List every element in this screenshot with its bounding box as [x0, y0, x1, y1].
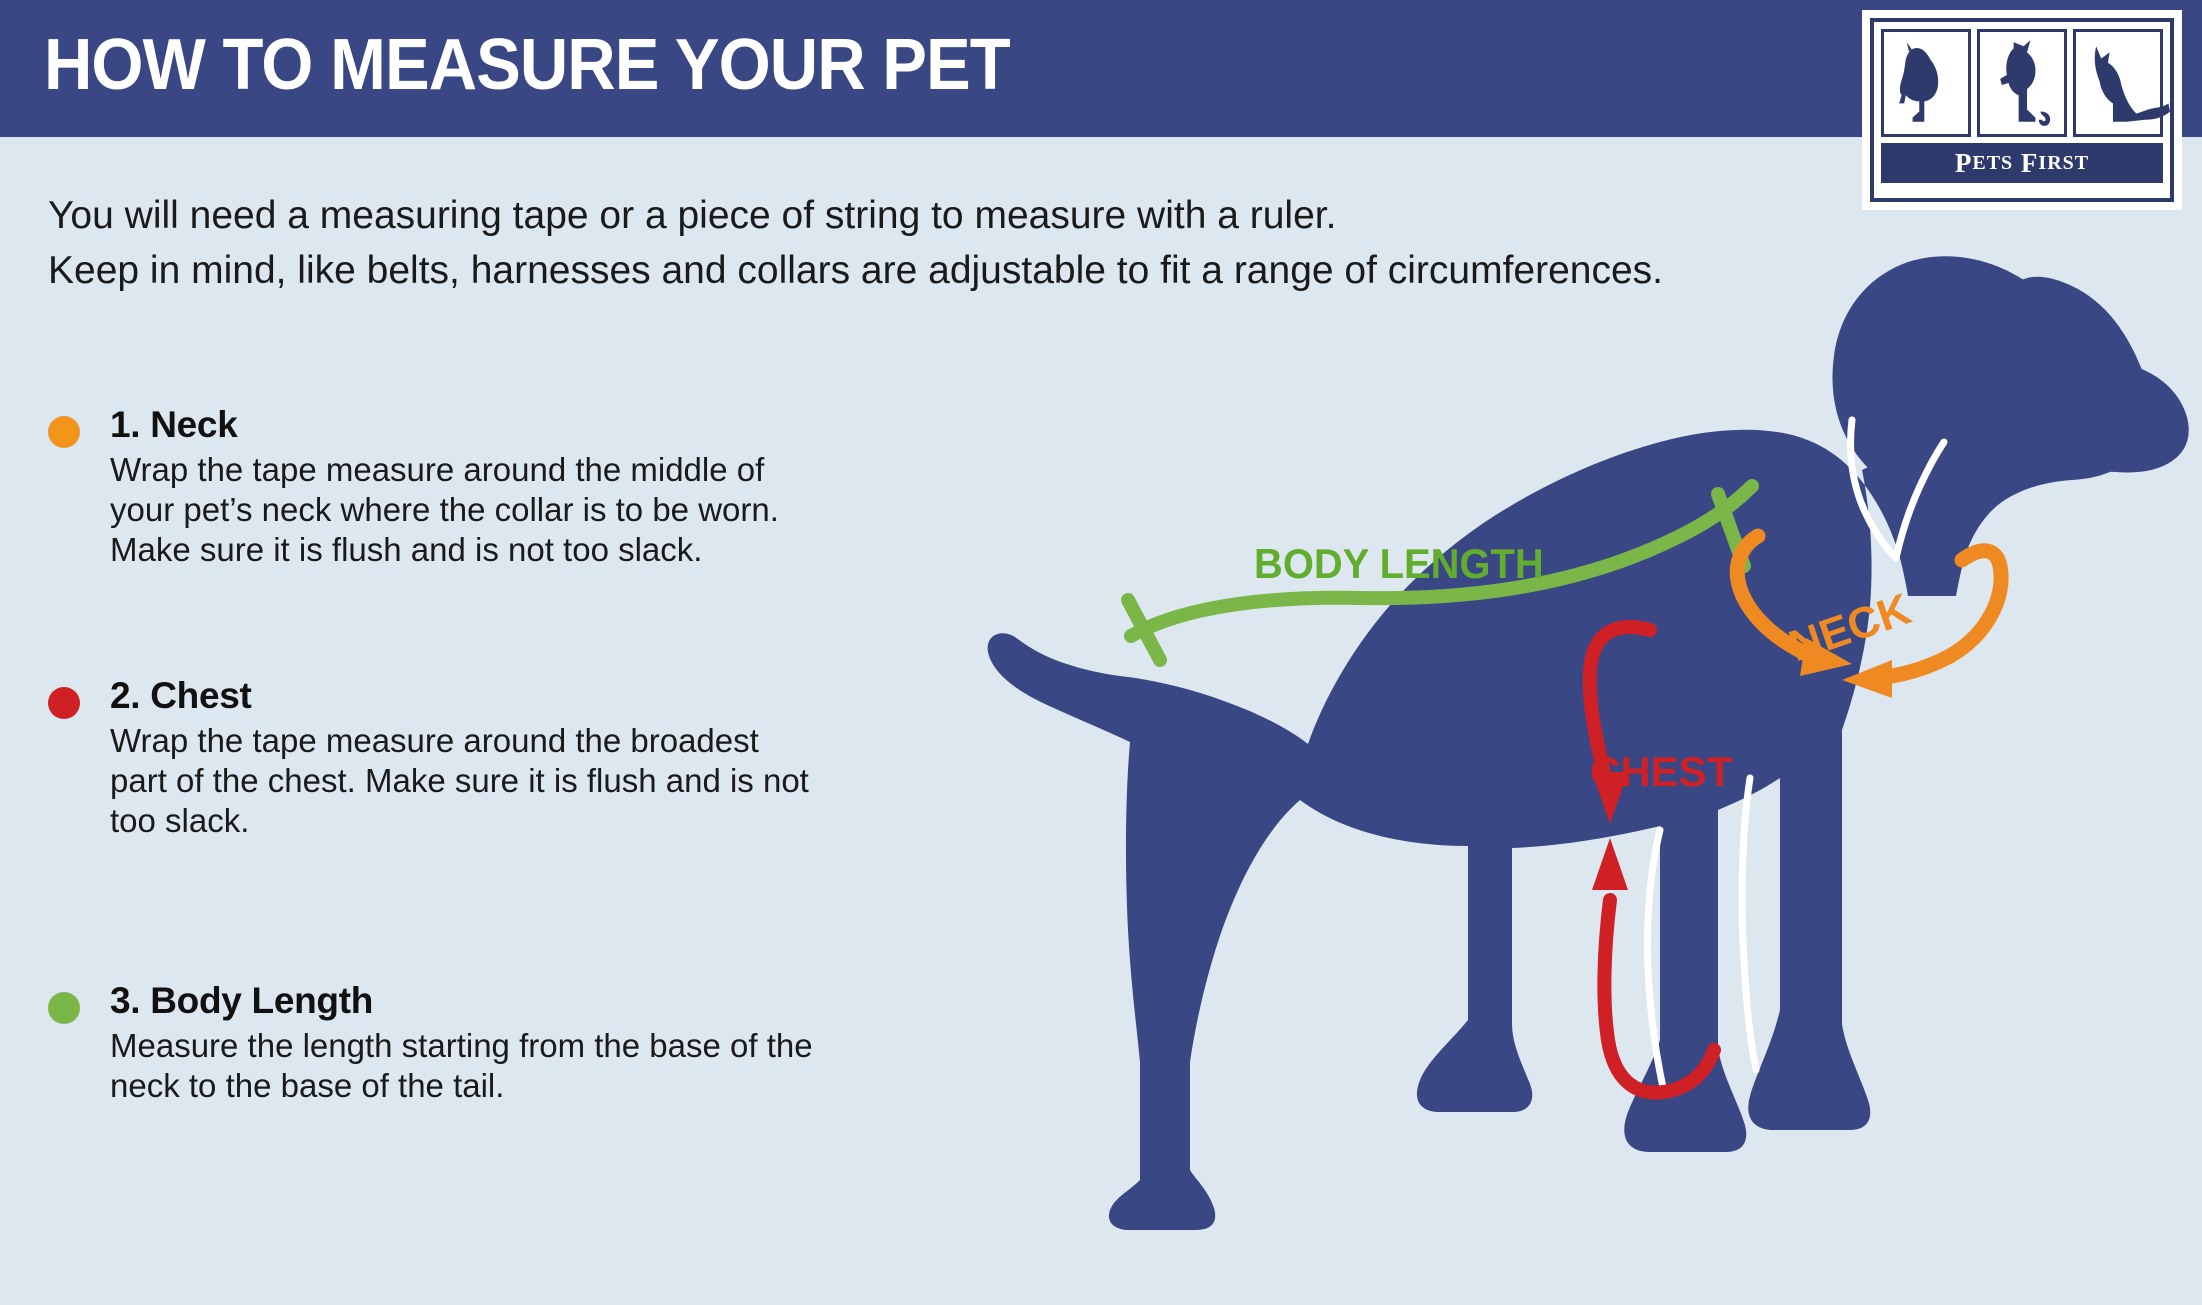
chest-measure-arrow-icon	[1590, 627, 1714, 1092]
dog-head-icon	[1833, 256, 2189, 596]
step-title-chest: 2. Chest	[110, 675, 708, 717]
step-desc-neck-line-3: Make sure it is flush and is not too sla…	[110, 530, 708, 570]
step-item-body-length: 3. Body Length Measure the length starti…	[48, 980, 708, 1106]
step-desc-body-length: Measure the length starting from the bas…	[110, 1026, 708, 1106]
bullet-chest-icon	[48, 687, 80, 719]
page-title: HOW TO MEASURE YOUR PET	[44, 24, 1010, 106]
brand-logo: PETS FIRST	[1862, 10, 2182, 210]
step-desc-chest-line-2: part of the chest. Make sure it is flush…	[110, 761, 708, 801]
step-item-chest: 2. Chest Wrap the tape measure around th…	[48, 675, 708, 841]
step-title-neck: 1. Neck	[110, 404, 708, 446]
label-body-length: BODY LENGTH	[1254, 540, 1544, 588]
bullet-body-length-icon	[48, 992, 80, 1024]
dog-howling-silhouette-icon	[1977, 29, 2067, 137]
logo-wordmark-f: F	[2021, 148, 2039, 179]
step-desc-body-length-line-2: neck to the base of the tail.	[110, 1066, 708, 1106]
step-desc-neck-line-1: Wrap the tape measure around the middle …	[110, 450, 708, 490]
intro-line-1: You will need a measuring tape or a piec…	[48, 188, 1808, 243]
dog-body-detail-lines	[1648, 778, 1757, 1092]
intro-line-2: Keep in mind, like belts, harnesses and …	[48, 243, 1808, 298]
label-neck: NECK	[1783, 584, 1917, 672]
logo-dog-panels	[1881, 29, 2163, 137]
dog-silhouette-icon	[988, 277, 2150, 1230]
step-desc-body-length-line-1: Measure the length starting from the bas…	[110, 1026, 708, 1066]
infographic-page: HOW TO MEASURE YOUR PET	[0, 0, 2202, 1305]
step-desc-chest: Wrap the tape measure around the broades…	[110, 721, 708, 841]
step-desc-chest-line-3: too slack.	[110, 801, 708, 841]
logo-wordmark-irst: IRST	[2038, 152, 2089, 175]
label-chest: CHEST	[1590, 748, 1732, 796]
step-desc-neck-line-2: your pet’s neck where the collar is to b…	[110, 490, 708, 530]
logo-wordmark-p: P	[1955, 148, 1973, 179]
intro-text: You will need a measuring tape or a piec…	[48, 188, 1808, 298]
dog-sitting-silhouette-icon	[1881, 29, 1971, 137]
dog-shepherd-silhouette-icon	[2073, 29, 2163, 137]
logo-wordmark: PETS FIRST	[1881, 143, 2163, 183]
step-item-neck: 1. Neck Wrap the tape measure around the…	[48, 404, 708, 570]
step-title-body-length: 3. Body Length	[110, 980, 708, 1022]
step-desc-chest-line-1: Wrap the tape measure around the broades…	[110, 721, 708, 761]
bullet-neck-icon	[48, 416, 80, 448]
step-desc-neck: Wrap the tape measure around the middle …	[110, 450, 708, 570]
dog-ear-outline	[1851, 420, 1944, 558]
logo-frame: PETS FIRST	[1870, 18, 2174, 202]
logo-wordmark-ets: ETS	[1972, 152, 2013, 175]
